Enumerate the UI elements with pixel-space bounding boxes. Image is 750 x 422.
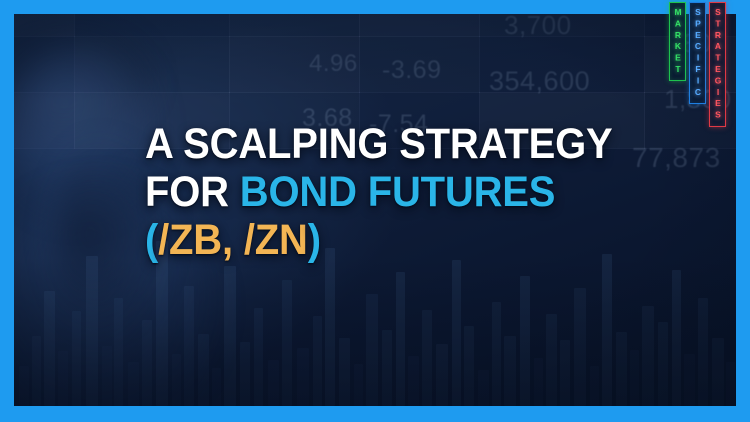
ticker-number: 77,873 xyxy=(632,142,721,174)
badge-market: MARKET xyxy=(669,2,686,81)
candlestick-bar xyxy=(602,254,612,406)
candlestick-bar xyxy=(325,248,335,406)
candlestick-bar xyxy=(616,332,627,406)
ticker-number: -3.69 xyxy=(382,56,441,85)
candlestick-bar xyxy=(102,346,112,406)
title-ticker-symbols: /ZB, /ZN xyxy=(158,216,308,264)
candlestick-bar xyxy=(282,280,292,406)
ticker-cell xyxy=(74,36,230,93)
candlestick-bar xyxy=(478,370,489,406)
candlestick-bar xyxy=(313,316,322,406)
page-title: A SCALPING STRATEGY FOR BOND FUTURES (/Z… xyxy=(145,120,554,264)
title-line-2-prefix: FOR xyxy=(145,168,240,216)
candlestick-bar xyxy=(408,356,419,406)
title-line-2: FOR BOND FUTURES xyxy=(145,168,554,216)
candlestick-bar xyxy=(86,256,98,406)
ticker-cell xyxy=(14,14,75,37)
ticker-cell xyxy=(479,36,645,93)
candlestick-bar xyxy=(492,302,501,406)
candlestick-bar xyxy=(422,310,432,406)
person-head-shape xyxy=(14,44,154,214)
candlestick-bar xyxy=(712,338,724,406)
candlestick-bar xyxy=(224,266,236,406)
candlestick-bar xyxy=(212,368,221,406)
candlestick-bar xyxy=(184,286,194,406)
candlestick-bar xyxy=(128,362,139,406)
candlestick-bar xyxy=(32,336,41,406)
candlestick-bar xyxy=(452,260,461,406)
candlestick-bar xyxy=(297,348,309,406)
ticker-cell xyxy=(359,36,480,93)
candlestick-bar xyxy=(642,306,654,406)
candlestick-bar xyxy=(658,322,668,406)
ticker-number: 4.96 xyxy=(309,50,358,78)
candlestick-bar xyxy=(464,326,474,406)
title-close-paren: ) xyxy=(308,216,321,264)
title-line-2-highlight: BOND FUTURES xyxy=(240,168,555,216)
person-hair-shape xyxy=(14,19,154,139)
candlestick-bar xyxy=(254,308,263,406)
candlestick-bar xyxy=(19,366,29,406)
candlestick-bar xyxy=(366,294,378,406)
ticker-cell xyxy=(359,14,480,37)
candlestick-bar xyxy=(436,344,448,406)
candlestick-bar xyxy=(354,364,363,406)
candlestick-bar xyxy=(504,336,516,406)
candlestick-bar xyxy=(44,291,55,406)
candlestick-bar xyxy=(240,342,250,406)
candlestick-bar xyxy=(72,311,81,406)
ticker-cell xyxy=(14,92,75,149)
candlestick-bar xyxy=(382,330,392,406)
candlestick-bar xyxy=(630,350,639,406)
badge-specific: SPECIFIC xyxy=(689,2,706,104)
candlestick-bar xyxy=(58,351,68,406)
candlestick-bar xyxy=(172,354,181,406)
ticker-number: 354,600 xyxy=(489,66,590,97)
candlestick-bar xyxy=(546,314,557,406)
candlestick-bar xyxy=(339,338,350,406)
candlestick-bar xyxy=(684,354,695,406)
ticker-cell xyxy=(479,14,645,37)
candlestick-bar xyxy=(198,334,209,406)
ticker-cell xyxy=(74,14,230,37)
candlestick-bar xyxy=(156,241,168,406)
ticker-number: 3,700 xyxy=(504,14,572,41)
candlestick-bar xyxy=(574,288,586,406)
candlestick-bar xyxy=(142,320,152,406)
title-line-1-text: A SCALPING STRATEGY xyxy=(145,120,612,168)
candlestick-bar xyxy=(534,358,543,406)
video-thumbnail: 4.96-3.69354,6003,700801,8003.68-7.5477,… xyxy=(0,0,750,422)
candlestick-bar xyxy=(590,366,599,406)
title-open-paren: ( xyxy=(145,216,158,264)
title-line-1: A SCALPING STRATEGY xyxy=(145,120,554,168)
badge-stack: MARKET SPECIFIC STRATEGIES xyxy=(669,2,726,127)
candlestick-bar xyxy=(114,298,123,406)
candlestick-bar xyxy=(560,340,570,406)
badge-strategies: STRATEGIES xyxy=(709,2,726,127)
ticker-cell xyxy=(14,36,75,93)
candlestick-bar xyxy=(268,360,279,406)
ticker-cell xyxy=(229,36,360,93)
thumbnail-canvas: 4.96-3.69354,6003,700801,8003.68-7.5477,… xyxy=(14,14,736,406)
title-line-3: (/ZB, /ZN) xyxy=(145,216,554,264)
candlestick-bar xyxy=(396,272,405,406)
ticker-cell xyxy=(229,14,360,37)
candlestick-bar xyxy=(726,362,735,406)
candlestick-bar xyxy=(520,276,530,406)
candlestick-bar xyxy=(672,270,681,406)
candlestick-bar xyxy=(698,298,708,406)
